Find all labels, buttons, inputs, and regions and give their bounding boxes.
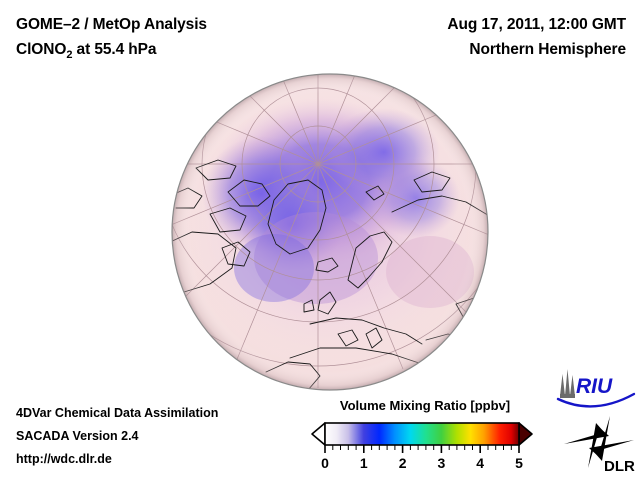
colorbar-graphic: 0 1 2 3 4 5 — [300, 416, 550, 476]
website-url[interactable]: http://wdc.dlr.de — [16, 448, 218, 471]
colorbar: Volume Mixing Ratio [ppbv] — [300, 398, 550, 476]
colorbar-tick-5: 5 — [515, 455, 523, 471]
colorbar-tick-2: 2 — [399, 455, 407, 471]
dlr-logo: DLR — [564, 416, 635, 475]
species-pressure-title: ClONO2 at 55.4 hPa — [16, 37, 207, 68]
colorbar-gradient — [325, 423, 519, 445]
pressure-level-label: at 55.4 hPa — [72, 41, 156, 58]
footer-text-block: 4DVar Chemical Data Assimilation SACADA … — [16, 402, 218, 471]
logo-block: RIU DLR — [552, 366, 640, 476]
header-right: Aug 17, 2011, 12:00 GMT Northern Hemisph… — [447, 12, 626, 62]
globe-map — [170, 72, 490, 392]
analysis-title: GOME–2 / MetOp Analysis — [16, 12, 207, 37]
colorbar-tick-0: 0 — [321, 455, 329, 471]
orthographic-projection — [170, 72, 490, 392]
method-label: 4DVar Chemical Data Assimilation — [16, 402, 218, 425]
colorbar-tick-4: 4 — [476, 455, 484, 471]
colorbar-tick-labels: 0 1 2 3 4 5 — [321, 455, 523, 471]
dlr-wordmark: DLR — [604, 458, 635, 475]
riu-tower-icon — [560, 369, 575, 398]
species-label: ClONO — [16, 41, 66, 58]
colorbar-ticks — [325, 445, 519, 453]
limb-shading — [172, 74, 488, 390]
colorbar-cap-low — [312, 423, 325, 445]
logos-graphic: RIU DLR — [552, 366, 640, 476]
riu-wordmark: RIU — [576, 375, 613, 398]
colorbar-cap-high — [519, 423, 532, 445]
header-left: GOME–2 / MetOp Analysis ClONO2 at 55.4 h… — [16, 12, 207, 68]
version-label: SACADA Version 2.4 — [16, 425, 218, 448]
figure-canvas: GOME–2 / MetOp Analysis ClONO2 at 55.4 h… — [0, 0, 640, 480]
riu-logo: RIU — [558, 369, 634, 406]
colorbar-tick-1: 1 — [360, 455, 368, 471]
colorbar-title: Volume Mixing Ratio [ppbv] — [300, 398, 550, 413]
hemisphere-label: Northern Hemisphere — [447, 37, 626, 62]
colorbar-tick-3: 3 — [438, 455, 446, 471]
datetime-label: Aug 17, 2011, 12:00 GMT — [447, 12, 626, 37]
